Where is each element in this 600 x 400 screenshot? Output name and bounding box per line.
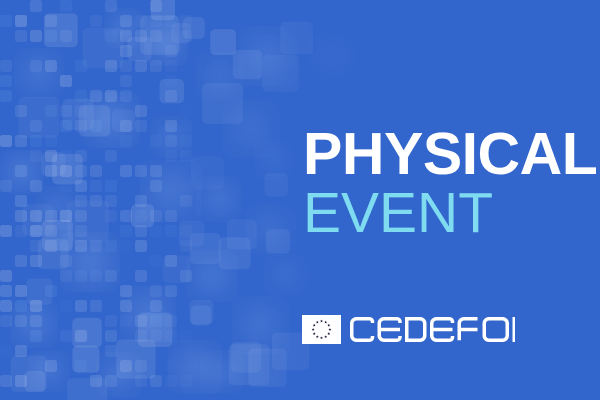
event-banner: PHYSICAL EVENT [0, 0, 600, 400]
headline-block: PHYSICAL EVENT [303, 124, 593, 243]
headline-secondary: EVENT [303, 184, 593, 243]
cedefop-logo [302, 315, 515, 344]
headline-primary: PHYSICAL [303, 124, 593, 184]
european-union-flag-icon [302, 315, 341, 344]
cedefop-wordmark [350, 317, 515, 342]
